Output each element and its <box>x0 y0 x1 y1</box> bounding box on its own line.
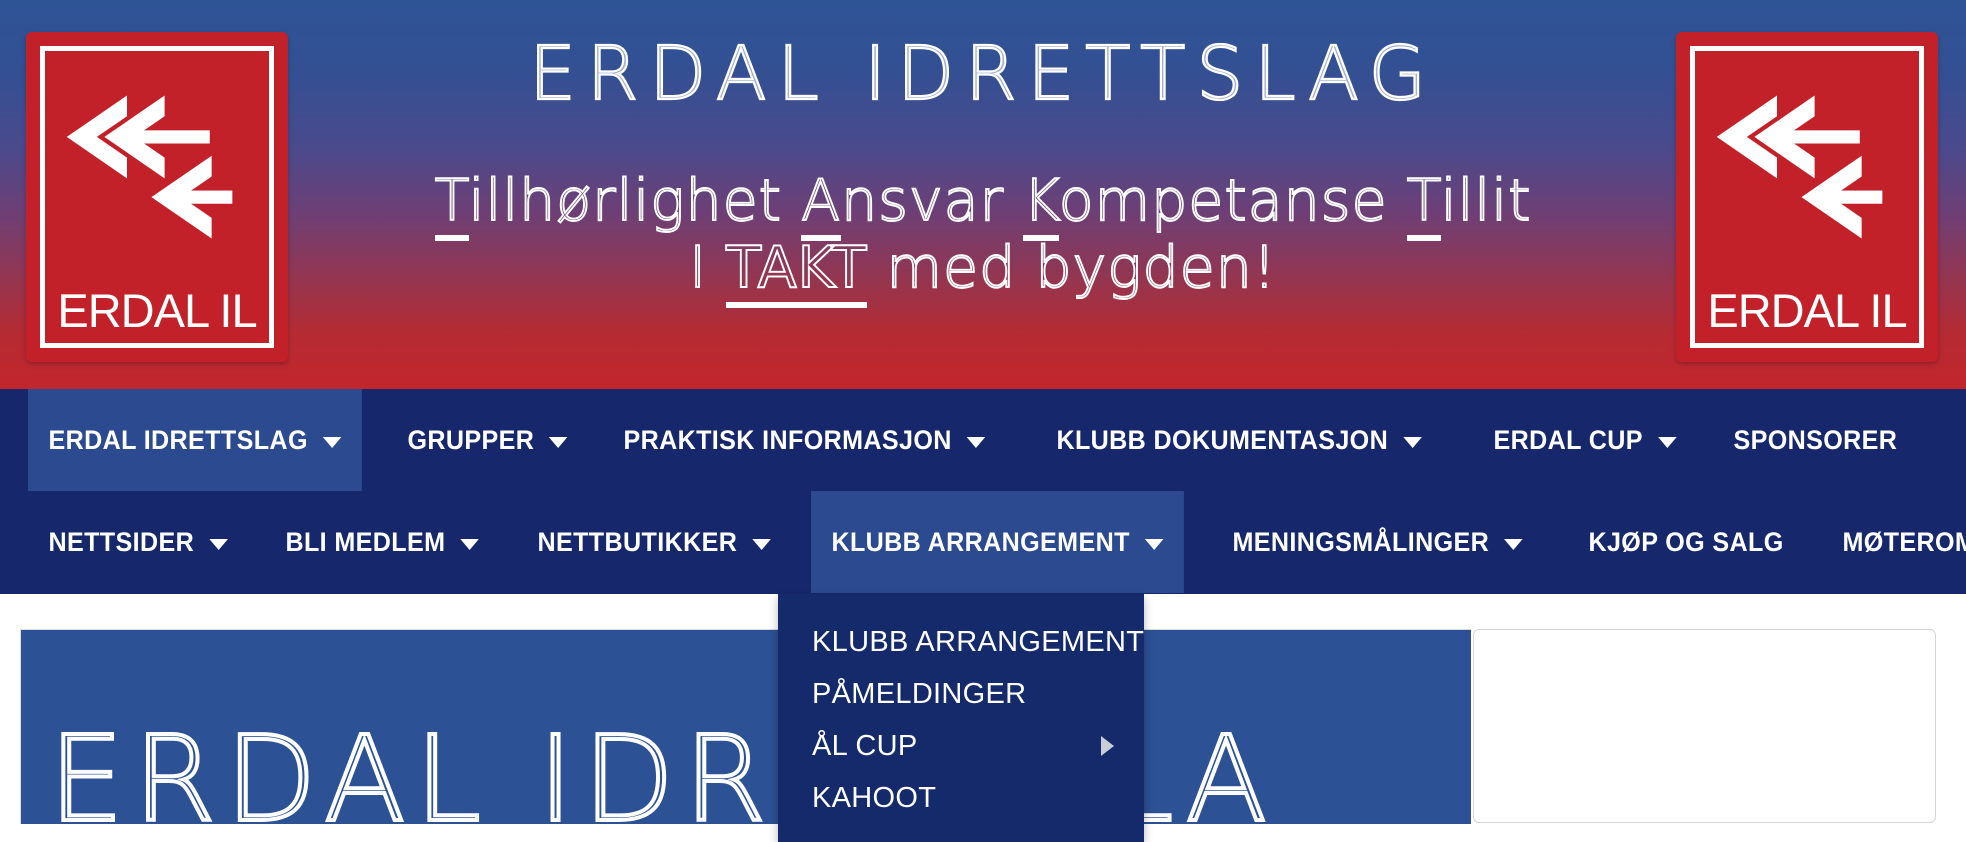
chevron-down-icon[interactable] <box>1145 539 1164 550</box>
dropdown-item-l-cup[interactable]: ÅL CUP <box>778 720 1144 772</box>
nav-item-label: MØTEROM <box>1843 527 1966 558</box>
chevron-right-icon[interactable] <box>1101 736 1114 756</box>
nav-item-meningsm-linger[interactable]: MENINGSMÅLINGER <box>1212 491 1543 593</box>
nav-item-label: KJØP OG SALG <box>1589 527 1784 558</box>
nav-item-nettbutikker[interactable]: NETTBUTIKKER <box>517 491 791 593</box>
erdal-il-logo-right[interactable]: ERDAL IL <box>1676 32 1938 362</box>
nav-item-nettsider[interactable]: NETTSIDER <box>28 491 248 593</box>
chevron-down-icon[interactable] <box>752 539 771 550</box>
nav-row-primary: ERDAL IDRETTSLAGGRUPPERPRAKTISK INFORMAS… <box>0 389 1966 491</box>
chevron-down-icon[interactable] <box>460 539 479 550</box>
dropdown-item-kahoot[interactable]: KAHOOT <box>778 772 1144 824</box>
nav-item-klubb-arrangement[interactable]: KLUBB ARRANGEMENT <box>811 491 1184 593</box>
dropdown-menu-klubb-arrangement: KLUBB ARRANGEMENTPÅMELDINGERÅL CUPKAHOOT <box>778 594 1144 842</box>
site-tagline: Tillhørlighet Ansvar Kompetanse Tillit I… <box>160 168 1806 301</box>
nav-row-secondary: NETTSIDERBLI MEDLEMNETTBUTIKKERKLUBB ARR… <box>0 491 1966 593</box>
nav-item-label: ERDAL CUP <box>1493 425 1642 456</box>
sidebar-card <box>1473 629 1936 823</box>
chevron-down-icon[interactable] <box>549 437 568 448</box>
hero-panel: ERDAL IDRETTSLA <box>20 629 1471 824</box>
nav-item-label: NETTBUTIKKER <box>537 527 737 558</box>
nav-item-sponsorer[interactable]: SPONSORER <box>1713 389 1918 491</box>
dropdown-item-label: KAHOOT <box>812 782 936 815</box>
chevron-down-icon[interactable] <box>967 437 986 448</box>
chevron-down-icon[interactable] <box>1403 437 1422 448</box>
nav-item-klubb-dokumentasjon[interactable]: KLUBB DOKUMENTASJON <box>1036 389 1442 491</box>
dropdown-item-label: ÅL CUP <box>812 730 917 763</box>
dropdown-item-label: KLUBB ARRANGEMENT <box>812 626 1144 659</box>
main-navigation: ERDAL IDRETTSLAGGRUPPERPRAKTISK INFORMAS… <box>0 389 1966 594</box>
chevron-down-icon[interactable] <box>1504 539 1523 550</box>
nav-item-label: KLUBB ARRANGEMENT <box>832 527 1130 558</box>
nav-item-bli-medlem[interactable]: BLI MEDLEM <box>265 491 499 593</box>
nav-item-grupper[interactable]: GRUPPER <box>387 389 588 491</box>
nav-item-label: GRUPPER <box>407 425 534 456</box>
double-chevron-arrows-icon <box>1713 69 1901 250</box>
nav-item-label: SPONSORER <box>1734 425 1898 456</box>
nav-item-praktisk-informasjon[interactable]: PRAKTISK INFORMASJON <box>603 389 1006 491</box>
site-header-banner: ERDAL IL ERDAL IDRETTSLAG Tillhørlighet … <box>0 0 1966 389</box>
nav-item-erdal-cup[interactable]: ERDAL CUP <box>1473 389 1697 491</box>
logo-inner-frame: ERDAL IL <box>1690 46 1924 348</box>
chevron-down-icon[interactable] <box>1658 437 1677 448</box>
logo-wordmark: ERDAL IL <box>1695 287 1919 334</box>
tagline-line-1: Tillhørlighet Ansvar Kompetanse Tillit <box>435 168 1532 241</box>
nav-item-label: ERDAL IDRETTSLAG <box>48 425 307 456</box>
nav-item-label: BLI MEDLEM <box>285 527 445 558</box>
dropdown-item-klubb-arrangement[interactable]: KLUBB ARRANGEMENT <box>778 616 1144 668</box>
nav-item-label: MENINGSMÅLINGER <box>1233 527 1490 558</box>
nav-item-label: KLUBB DOKUMENTASJON <box>1057 425 1389 456</box>
tagline-line-2: I TAKT med bygden! <box>160 235 1806 302</box>
nav-item-label: PRAKTISK INFORMASJON <box>624 425 952 456</box>
nav-item-kj-p-og-salg[interactable]: KJØP OG SALG <box>1568 491 1804 593</box>
nav-item-m-terom[interactable]: MØTEROM <box>1822 491 1966 593</box>
chevron-down-icon[interactable] <box>209 539 228 550</box>
chevron-down-icon[interactable] <box>323 437 342 448</box>
dropdown-item-label: PÅMELDINGER <box>812 678 1026 711</box>
nav-item-label: NETTSIDER <box>48 527 194 558</box>
dropdown-item-p-meldinger[interactable]: PÅMELDINGER <box>778 668 1144 720</box>
nav-item-erdal-idrettslag[interactable]: ERDAL IDRETTSLAG <box>28 389 362 491</box>
site-title: ERDAL IDRETTSLAG <box>300 36 1666 114</box>
